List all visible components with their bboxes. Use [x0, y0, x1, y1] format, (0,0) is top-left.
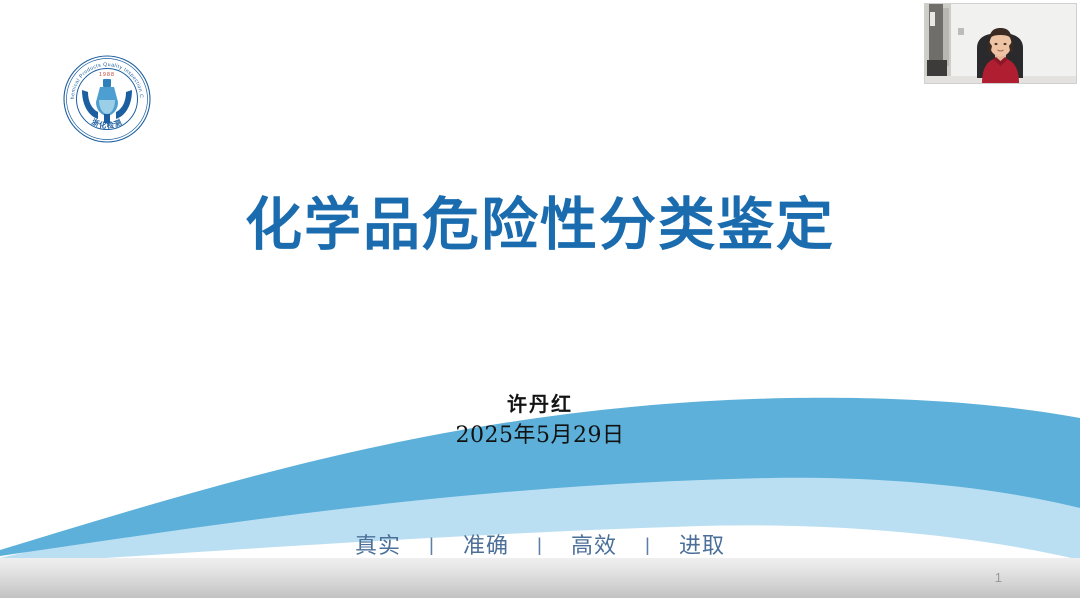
presenter-block: 许丹红 2025年5月29日 — [0, 392, 1080, 449]
webcam-video-overlay[interactable] — [925, 4, 1076, 83]
company-tagline: 真实 丨 准确 丨 高效 丨 进取 — [0, 528, 1080, 560]
slide-canvas: Chemical Products Quality Inspection Co.… — [0, 0, 1080, 598]
tagline-word-1: 真实 — [351, 534, 405, 559]
svg-text:1988: 1988 — [99, 72, 115, 78]
tagline-word-3: 高效 — [567, 534, 621, 559]
presentation-screen: Chemical Products Quality Inspection Co.… — [0, 0, 1080, 598]
slide-title: 化学品危险性分类鉴定 — [0, 192, 1080, 259]
page-number: 1 — [995, 570, 1002, 585]
company-logo: Chemical Products Quality Inspection Co.… — [62, 54, 152, 144]
tagline-word-2: 准确 — [459, 534, 513, 559]
slide-footer-bar: 1 — [0, 558, 1080, 598]
tagline-word-4: 进取 — [675, 534, 729, 559]
tagline-separator-3: 丨 — [629, 536, 667, 558]
tagline-separator-2: 丨 — [521, 536, 559, 558]
presentation-date: 2025年5月29日 — [0, 423, 1080, 449]
tagline-separator-1: 丨 — [413, 536, 451, 558]
presenter-name: 许丹红 — [0, 392, 1080, 417]
